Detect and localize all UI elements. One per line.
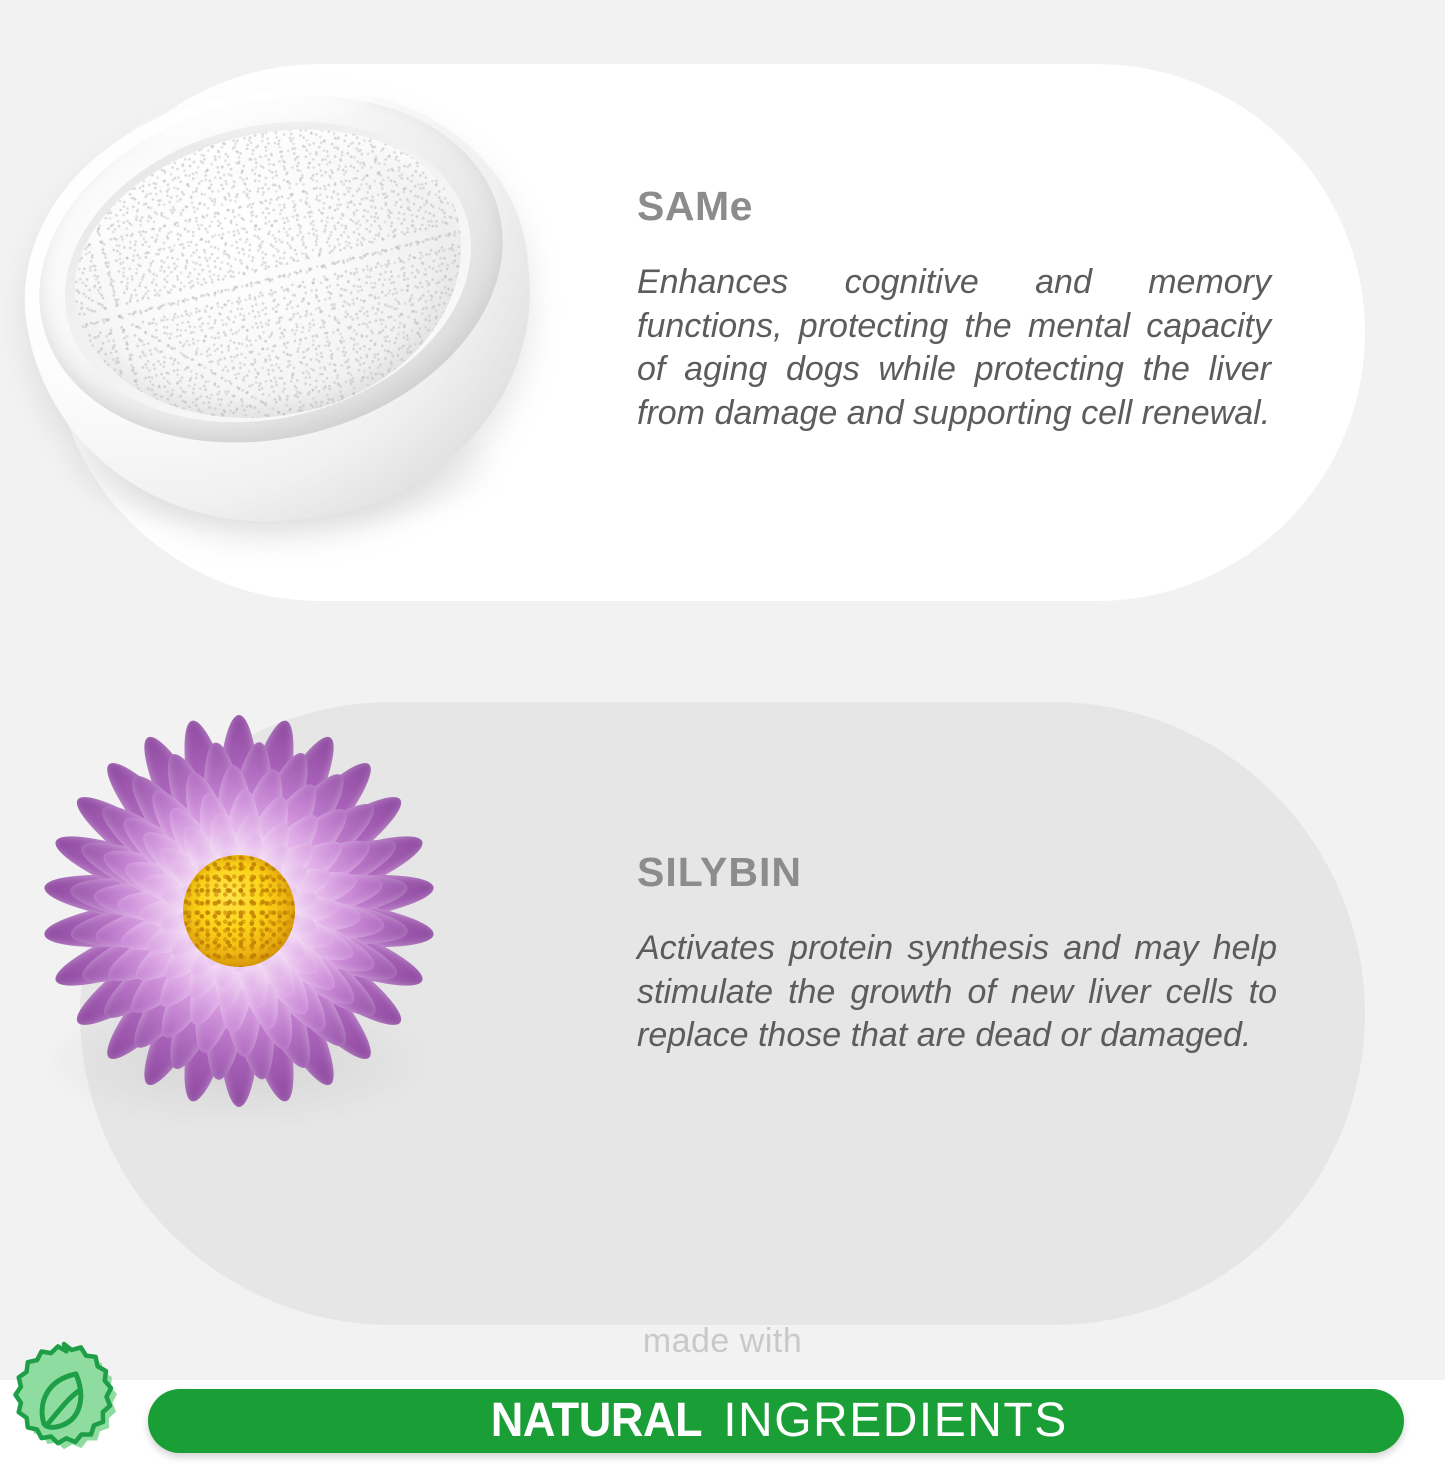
bowl-of-white-powder-image [8, 74, 568, 544]
ingredient-text-silybin: SILYBIN Activates protein synthesis and … [637, 852, 1277, 1058]
purple-flower-image [14, 672, 464, 1150]
infographic-page: SAMe Enhances cognitive and memory funct… [0, 0, 1445, 1462]
natural-ingredients-headline: NATURALINGREDIENTS [484, 1397, 1067, 1445]
ingredient-text-same: SAMe Enhances cognitive and memory funct… [637, 186, 1271, 435]
ingredient-title-silybin: SILYBIN [637, 852, 1277, 893]
flower-center-disc [183, 855, 295, 967]
ingredient-description-silybin: Activates protein synthesis and may help… [637, 927, 1277, 1058]
ingredient-title-same: SAMe [637, 186, 1271, 227]
made-with-label: made with [0, 1322, 1445, 1361]
headline-word-ingredients: INGREDIENTS [723, 1394, 1068, 1447]
natural-ingredients-bar: NATURALINGREDIENTS [148, 1389, 1404, 1453]
natural-ingredients-banner: made with NATURALINGREDIENTS [0, 1380, 1445, 1462]
ingredient-description-same: Enhances cognitive and memory functions,… [637, 261, 1271, 435]
headline-word-natural: NATURAL [491, 1397, 702, 1445]
leaf-badge-icon [6, 1338, 134, 1466]
